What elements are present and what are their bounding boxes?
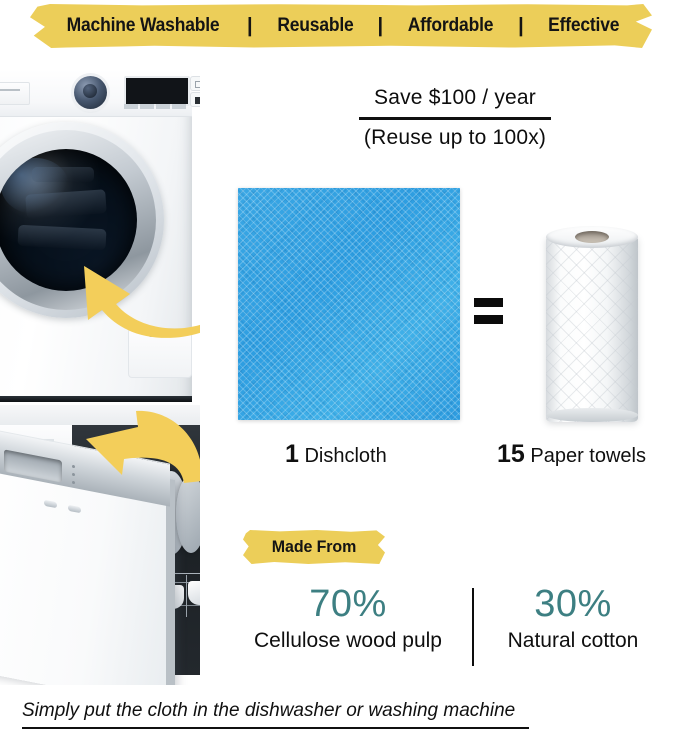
banner-feature-list: Machine Washable | Reusable | Affordable… (30, 4, 652, 48)
composition-section: 70% Cellulose wood pulp 30% Natural cott… (238, 585, 679, 675)
footer-instruction: Simply put the cloth in the dishwasher o… (22, 700, 515, 722)
washer-start-button-icon (190, 92, 200, 107)
cotton-name: Natural cotton (463, 629, 679, 653)
feature-reusable: Reusable (277, 15, 353, 37)
feature-effective: Effective (548, 15, 619, 37)
made-from-label: Made From (247, 530, 380, 564)
washer-program-knob-icon (74, 76, 107, 109)
washer-base-shadow (0, 396, 192, 402)
dishcloth-label: Dishcloth (304, 445, 386, 467)
paper-towel-roll-icon (546, 226, 638, 422)
dishcloth-swatch-icon (238, 188, 460, 420)
cellulose-name: Cellulose wood pulp (238, 629, 458, 653)
washer-display-screen (124, 76, 190, 106)
washer-glass-glare (1, 158, 69, 215)
washer-display-buttons (124, 104, 186, 109)
savings-block: Save $100 / year (Reuse up to 100x) (330, 86, 580, 150)
dishwasher-indicator-led (72, 473, 75, 477)
washing-machine-photo (0, 60, 200, 405)
washer-door-ring (0, 130, 156, 310)
savings-divider (359, 117, 551, 120)
washer-filter-hatch (128, 328, 192, 378)
savings-subline: (Reuse up to 100x) (330, 126, 580, 150)
cotton-percent: 30% (463, 585, 679, 625)
roll-body (546, 236, 638, 422)
material-cotton: 30% Natural cotton (463, 585, 679, 653)
made-from-badge: Made From (243, 530, 385, 564)
savings-headline: Save $100 / year (330, 86, 580, 110)
banner-separator-1: | (226, 16, 274, 36)
dishwasher-indicator-led (72, 481, 75, 485)
dishwasher-countertop (0, 405, 200, 426)
feature-banner: Machine Washable | Reusable | Affordable… (0, 0, 679, 56)
dishwasher-photo (0, 405, 200, 685)
footer-underline (22, 727, 529, 729)
dish-cup (188, 581, 200, 605)
feature-affordable: Affordable (408, 15, 494, 37)
paper-towels-caption: 15 Paper towels (497, 440, 646, 469)
paper-towels-count: 15 (497, 440, 525, 468)
dishcloth-caption: 1 Dishcloth (285, 440, 387, 469)
equals-sign-icon (474, 297, 503, 323)
material-cellulose: 70% Cellulose wood pulp (238, 585, 458, 653)
roll-bottom-edge (546, 408, 638, 422)
washer-power-button-icon (190, 76, 200, 91)
washer-detergent-drawer (0, 82, 30, 105)
banner-separator-3: | (497, 16, 545, 36)
dish-plate (176, 475, 200, 553)
dishcloth-count: 1 (285, 440, 299, 468)
cellulose-percent: 70% (238, 585, 458, 625)
paper-towels-label: Paper towels (530, 445, 646, 467)
washer-door-glass (0, 149, 137, 291)
banner-separator-2: | (356, 16, 404, 36)
roll-cardboard-core (575, 231, 609, 243)
dishwasher-indicator-led (72, 465, 75, 469)
feature-machine-washable: Machine Washable (67, 15, 220, 37)
washer-drum-detail (17, 225, 106, 251)
